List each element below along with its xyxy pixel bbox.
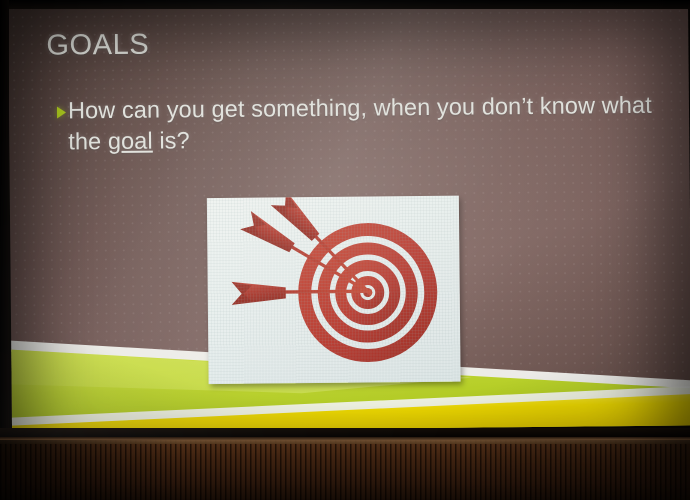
wall-trim [0, 437, 690, 444]
screen-edge-top [0, 0, 690, 9]
wood-slat-wall [0, 440, 690, 500]
screen-edge-left [0, 0, 9, 500]
projector-photo: GOALS How can you get something, when yo… [0, 0, 690, 500]
projection-screen: GOALS How can you get something, when yo… [8, 1, 690, 432]
presentation-slide: GOALS How can you get something, when yo… [8, 1, 690, 432]
projector-hotspot [8, 1, 690, 432]
